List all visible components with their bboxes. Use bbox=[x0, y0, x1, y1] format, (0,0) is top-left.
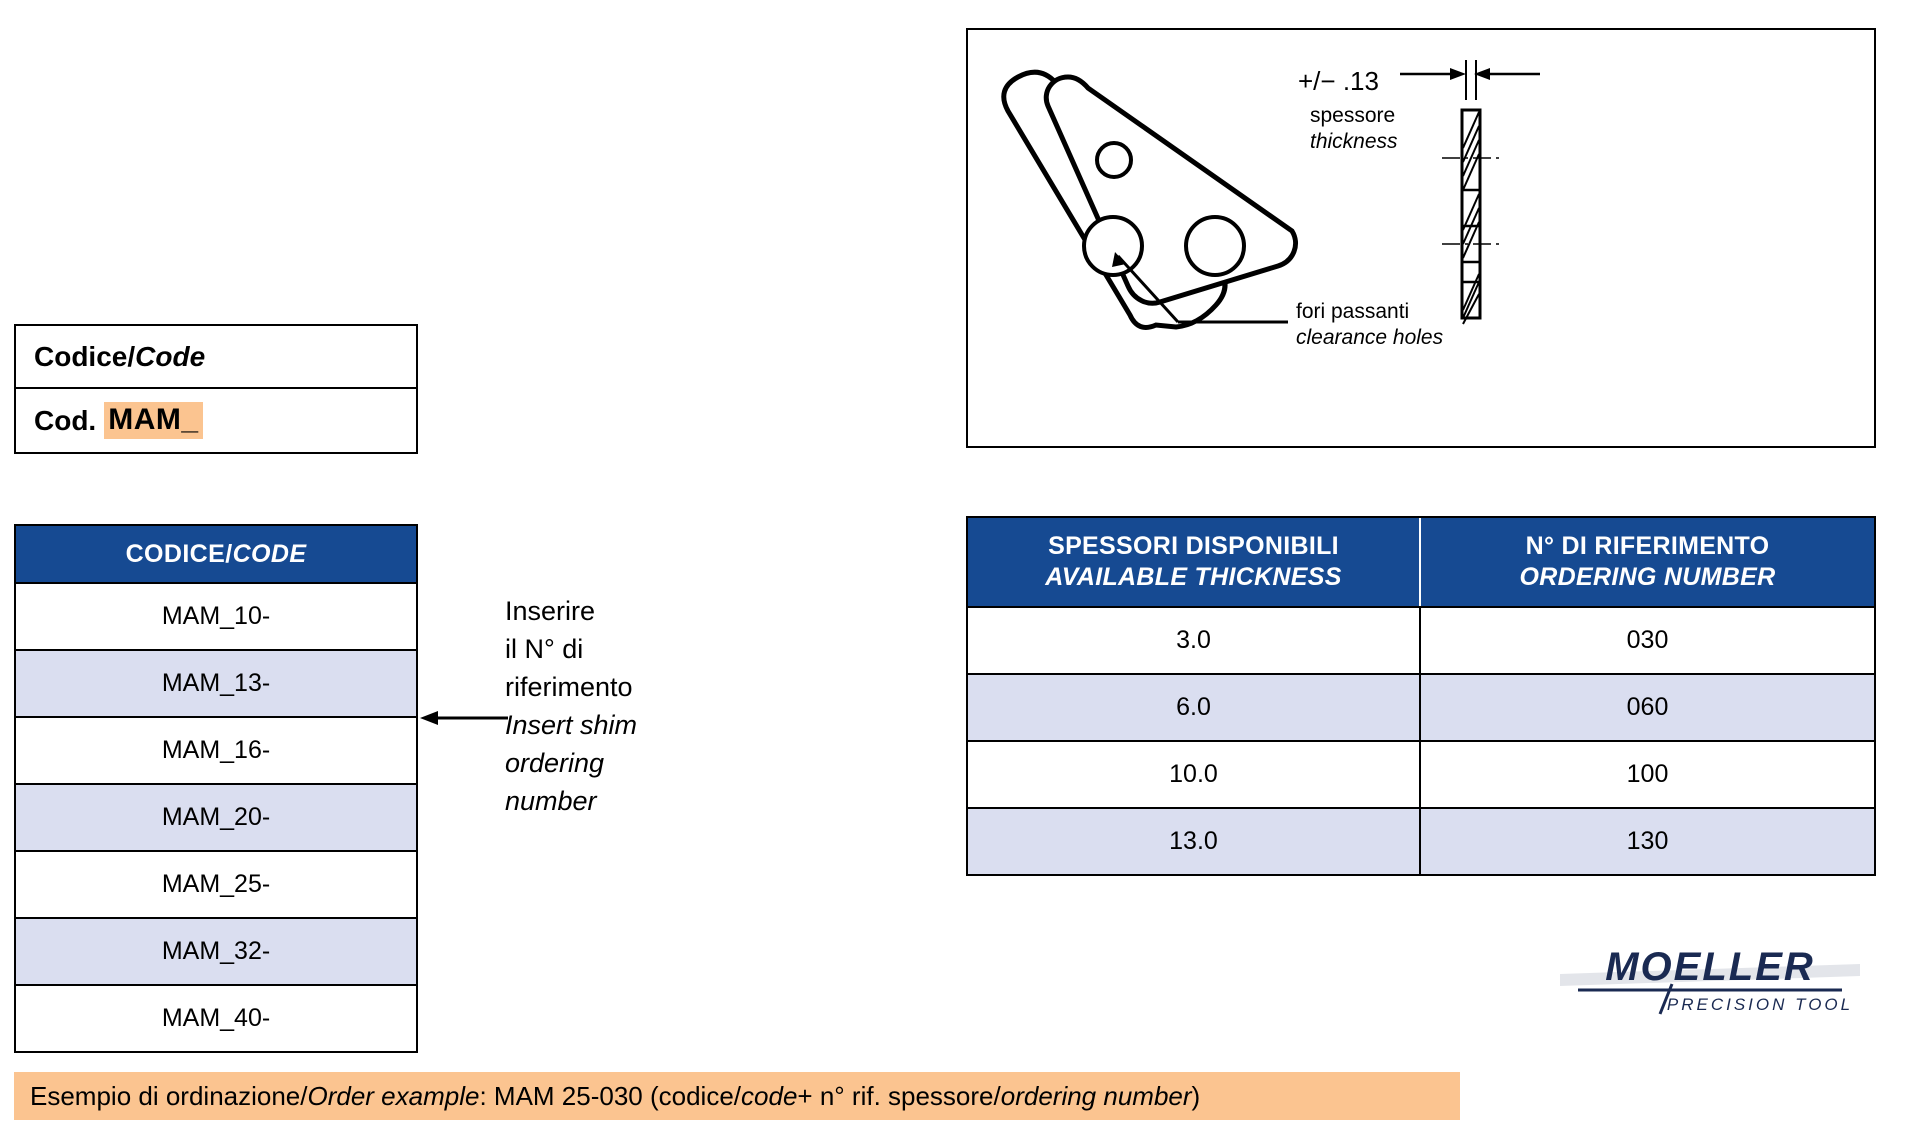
code-box-cod-value: MAM_ bbox=[104, 402, 202, 439]
thickness-header-cell: SPESSORI DISPONIBILI AVAILABLE THICKNESS bbox=[968, 518, 1421, 606]
thickness-header-en: AVAILABLE THICKNESS bbox=[1045, 562, 1341, 593]
logo-name: MOELLER bbox=[1605, 945, 1815, 989]
holes-label-en: clearance holes bbox=[1296, 326, 1444, 349]
table-row: MAM_32- bbox=[16, 917, 416, 984]
footer-label-en: Order example bbox=[308, 1081, 480, 1112]
footer-text-en-2: code bbox=[741, 1081, 797, 1112]
code-table-header: CODICE/CODE bbox=[16, 526, 416, 582]
order-example-footer: Esempio di ordinazione/Order example: MA… bbox=[14, 1072, 1460, 1120]
logo-tagline: PRECISION TOOL bbox=[1667, 995, 1853, 1014]
thickness-value: 6.0 bbox=[968, 673, 1421, 740]
ordering-value: 060 bbox=[1421, 673, 1874, 740]
holes-label-it: fori passanti bbox=[1296, 300, 1409, 323]
shim-body bbox=[1046, 77, 1295, 303]
insert-note-line-4: Insert shim bbox=[505, 706, 705, 744]
footer-text-3: ) bbox=[1192, 1081, 1201, 1112]
arrow-left-icon bbox=[420, 708, 508, 728]
side-section-view bbox=[1442, 110, 1502, 324]
insert-note-line-3: riferimento bbox=[505, 668, 705, 706]
dim-arrow-right-icon bbox=[1450, 68, 1466, 80]
shim-drawing-panel: fori passanti clearance holes +/− .13 sp… bbox=[966, 28, 1876, 448]
ordering-header-it: N° DI RIFERIMENTO bbox=[1526, 531, 1770, 562]
thickness-label-en: thickness bbox=[1310, 130, 1398, 153]
insert-note-line-1: Inserire bbox=[505, 592, 705, 630]
table-row: MAM_16- bbox=[16, 716, 416, 783]
ordering-value: 100 bbox=[1421, 740, 1874, 807]
thickness-table: SPESSORI DISPONIBILI AVAILABLE THICKNESS… bbox=[966, 516, 1876, 876]
insert-note-line-6: number bbox=[505, 782, 705, 820]
ordering-value: 130 bbox=[1421, 807, 1874, 874]
ordering-header-cell: N° DI RIFERIMENTO ORDERING NUMBER bbox=[1421, 518, 1874, 606]
footer-text-1: : MAM 25-030 (codice/ bbox=[479, 1081, 741, 1112]
code-table-header-en: CODE bbox=[233, 540, 307, 569]
table-row: 10.0 100 bbox=[968, 740, 1874, 807]
code-box: Codice/Code Cod.MAM_ bbox=[14, 324, 418, 454]
thickness-table-header: SPESSORI DISPONIBILI AVAILABLE THICKNESS… bbox=[968, 518, 1874, 606]
table-row: 3.0 030 bbox=[968, 606, 1874, 673]
code-box-value-row: Cod.MAM_ bbox=[16, 389, 416, 452]
insert-shim-note: Inserire il N° di riferimento Insert shi… bbox=[505, 592, 705, 820]
thickness-value: 13.0 bbox=[968, 807, 1421, 874]
table-row: MAM_40- bbox=[16, 984, 416, 1051]
code-box-cod-prefix: Cod. bbox=[34, 405, 96, 437]
footer-text-2: + n° rif. spessore/ bbox=[797, 1081, 1000, 1112]
code-box-header-row: Codice/Code bbox=[16, 326, 416, 389]
table-row: MAM_25- bbox=[16, 850, 416, 917]
insert-note-line-2: il N° di bbox=[505, 630, 705, 668]
thickness-value: 10.0 bbox=[968, 740, 1421, 807]
code-box-header-en: Code bbox=[135, 341, 205, 373]
table-row: MAM_10- bbox=[16, 582, 416, 649]
table-row: MAM_20- bbox=[16, 783, 416, 850]
table-row: MAM_13- bbox=[16, 649, 416, 716]
thickness-label-it: spessore bbox=[1310, 104, 1395, 127]
code-box-header-it: Codice/ bbox=[34, 341, 135, 373]
table-row: 6.0 060 bbox=[968, 673, 1874, 740]
table-row: 13.0 130 bbox=[968, 807, 1874, 874]
thickness-value: 3.0 bbox=[968, 606, 1421, 673]
moeller-logo: MOELLER PRECISION TOOL bbox=[1560, 940, 1860, 1020]
clearance-hole-right-icon bbox=[1186, 217, 1244, 275]
footer-text-en-3: ordering number bbox=[1001, 1081, 1192, 1112]
code-table-header-it: CODICE/ bbox=[126, 540, 233, 569]
shim-technical-drawing: fori passanti clearance holes +/− .13 sp… bbox=[968, 30, 1874, 446]
ordering-header-en: ORDERING NUMBER bbox=[1520, 562, 1776, 593]
footer-label-it: Esempio di ordinazione/ bbox=[30, 1081, 308, 1112]
insert-note-line-5: ordering bbox=[505, 744, 705, 782]
thickness-header-it: SPESSORI DISPONIBILI bbox=[1048, 531, 1339, 562]
center-hole-icon bbox=[1097, 143, 1131, 177]
tolerance-label: +/− .13 bbox=[1298, 66, 1379, 96]
code-table: CODICE/CODE MAM_10- MAM_13- MAM_16- MAM_… bbox=[14, 524, 418, 1053]
ordering-value: 030 bbox=[1421, 606, 1874, 673]
